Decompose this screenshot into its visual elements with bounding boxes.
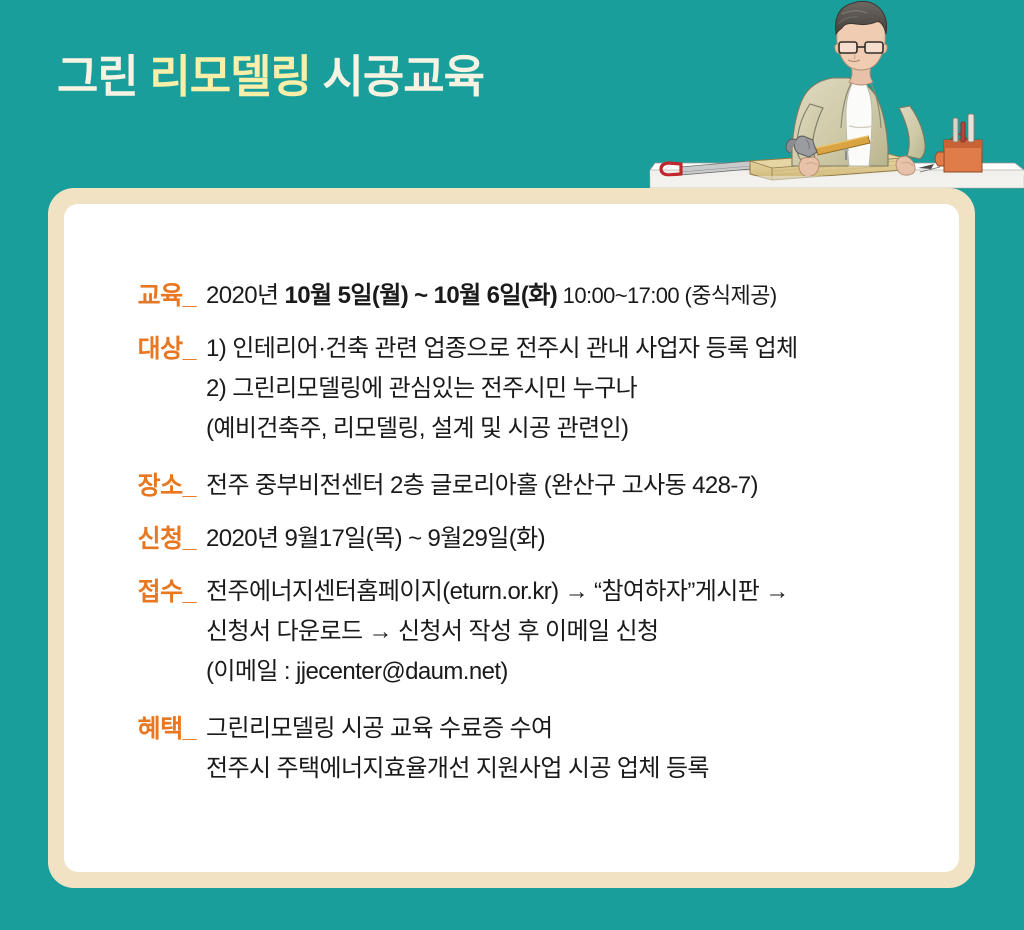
info-card-inner: 교육_ 2020년 10월 5일(월) ~ 10월 6일(화) 10:00~17…: [64, 204, 959, 872]
info-label-education: 교육_: [88, 276, 206, 316]
education-date-range: 10월 5일(월) ~ 10월 6일(화): [285, 282, 558, 309]
info-label-target: 대상_: [88, 329, 206, 369]
info-content-application-period: 2020년 9월17일(목) ~ 9월29일(화): [206, 519, 935, 559]
title-part-construction-education: 시공교육: [311, 51, 484, 102]
title-part-green: 그린: [57, 51, 149, 102]
title-part-remodeling: 리모델링: [149, 51, 311, 102]
wooden-plank: [750, 152, 903, 180]
info-label-venue: 장소_: [88, 466, 206, 506]
info-line: 전주에너지센터홈페이지(eturn.or.kr) → “참여하자”게시판 →: [206, 572, 935, 612]
page-title: 그린 리모델링 시공교육: [57, 52, 484, 102]
info-content-benefits: 그린리모델링 시공 교육 수료증 수여 전주시 주택에너지효율개선 지원사업 시…: [206, 709, 935, 789]
pencil-mark: [918, 164, 940, 172]
info-label-benefits: 혜택_: [88, 709, 206, 749]
info-label-application-period: 신청_: [88, 519, 206, 559]
info-content-education: 2020년 10월 5일(월) ~ 10월 6일(화) 10:00~17:00 …: [206, 276, 935, 316]
handsaw-tool: [661, 161, 751, 175]
info-line: 2020년 9월17일(목) ~ 9월29일(화): [206, 519, 935, 559]
info-line: 2020년 10월 5일(월) ~ 10월 6일(화) 10:00~17:00 …: [206, 276, 935, 316]
hammer-tool: [786, 136, 870, 157]
info-row-application-period: 신청_ 2020년 9월17일(목) ~ 9월29일(화): [88, 519, 935, 559]
glasses: [839, 42, 883, 53]
info-label-reception: 접수_: [88, 572, 206, 612]
info-line: 그린리모델링 시공 교육 수료증 수여: [206, 709, 935, 749]
info-row-venue: 장소_ 전주 중부비전센터 2층 글로리아홀 (완산구 고사동 428-7): [88, 466, 935, 506]
info-line: 전주시 주택에너지효율개선 지원사업 시공 업체 등록: [206, 749, 935, 789]
toolbox: [935, 114, 982, 172]
info-content-target: 1) 인테리어·건축 관련 업종으로 전주시 관내 사업자 등록 업체 2) 그…: [206, 329, 935, 449]
carpenter-hammering-illustration: [620, 0, 1024, 200]
info-content-venue: 전주 중부비전센터 2층 글로리아홀 (완산구 고사동 428-7): [206, 466, 935, 506]
info-line-email: (이메일 : jjecenter@daum.net): [206, 652, 935, 692]
illustration-scene: [650, 1, 1024, 188]
info-row-target: 대상_ 1) 인테리어·건축 관련 업종으로 전주시 관내 사업자 등록 업체 …: [88, 329, 935, 449]
info-rows: 교육_ 2020년 10월 5일(월) ~ 10월 6일(화) 10:00~17…: [88, 276, 935, 802]
info-line: 2) 그린리모델링에 관심있는 전주시민 누구나: [206, 369, 935, 409]
info-row-benefits: 혜택_ 그린리모델링 시공 교육 수료증 수여 전주시 주택에너지효율개선 지원…: [88, 709, 935, 789]
education-date-prefix: 2020년: [206, 282, 285, 309]
info-line: (예비건축주, 리모델링, 설계 및 시공 관련인): [206, 409, 935, 449]
info-line: 신청서 다운로드 → 신청서 작성 후 이메일 신청: [206, 612, 935, 652]
poster-root: 그린 리모델링 시공교육: [0, 0, 1024, 930]
info-row-education: 교육_ 2020년 10월 5일(월) ~ 10월 6일(화) 10:00~17…: [88, 276, 935, 316]
info-line: 전주 중부비전센터 2층 글로리아홀 (완산구 고사동 428-7): [206, 466, 935, 506]
info-row-reception: 접수_ 전주에너지센터홈페이지(eturn.or.kr) → “참여하자”게시판…: [88, 572, 935, 692]
info-content-reception: 전주에너지센터홈페이지(eturn.or.kr) → “참여하자”게시판 → 신…: [206, 572, 935, 692]
info-line: 1) 인테리어·건축 관련 업종으로 전주시 관내 사업자 등록 업체: [206, 329, 935, 369]
info-card: 교육_ 2020년 10월 5일(월) ~ 10월 6일(화) 10:00~17…: [48, 188, 975, 888]
workbench: [650, 163, 1024, 188]
person-figure: [786, 1, 925, 176]
education-time: 10:00~17:00 (중식제공): [557, 283, 776, 308]
